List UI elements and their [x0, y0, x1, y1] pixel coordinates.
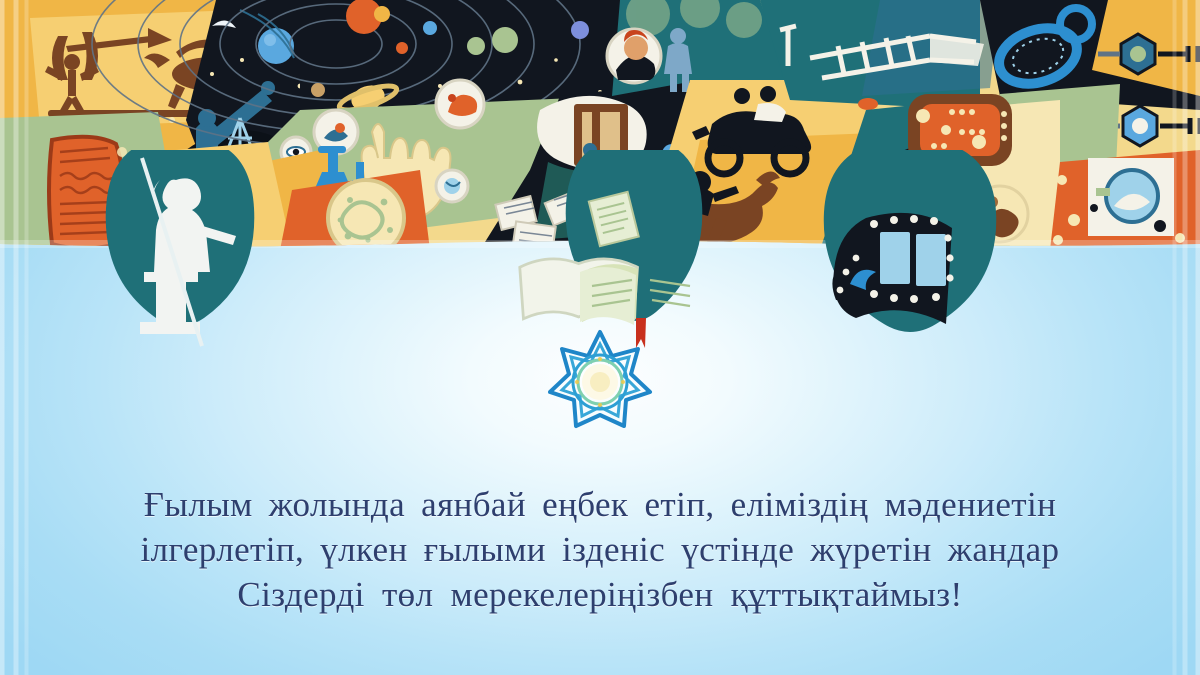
philosopher-drop: [106, 150, 255, 346]
film-strip-icon: [832, 213, 953, 324]
greeting-text: Ғылым жолында аянбай еңбек етіп, елімізд…: [0, 482, 1200, 617]
eight-pointed-star-emblem: [547, 329, 653, 435]
book-drop: [520, 150, 703, 348]
greeting-card: E: [0, 0, 1200, 675]
greeting-line-2: ілгерлетіп, үлкен ғылыми ізденіс үстінде…: [0, 527, 1200, 572]
greeting-line-3: Сіздерді төл мерекелеріңізбен құттықтайм…: [0, 572, 1200, 617]
scientist-portrait-icon: [607, 29, 661, 83]
film-drop: [824, 150, 996, 332]
greeting-line-1: Ғылым жолында аянбай еңбек етіп, елімізд…: [0, 482, 1200, 527]
